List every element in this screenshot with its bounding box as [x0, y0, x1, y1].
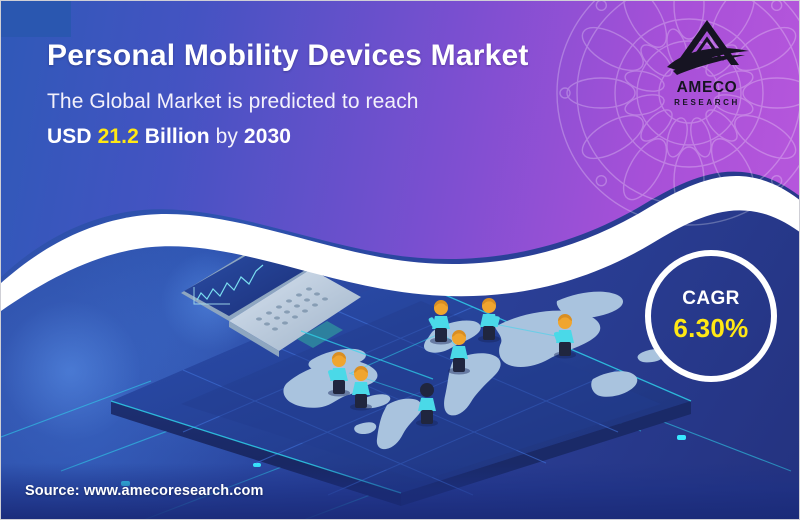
logo-subtitle: RESEARCH	[651, 98, 763, 107]
cagr-badge: CAGR 6.30%	[645, 250, 777, 382]
value-unit: Billion	[145, 125, 210, 148]
logo-name: AMECO	[651, 80, 763, 96]
cagr-value: 6.30%	[673, 313, 748, 344]
cagr-label: CAGR	[682, 288, 740, 310]
source-bar: Source: www.amecoresearch.com	[1, 463, 799, 519]
subtitle-line-2: USD 21.2 Billion by 2030	[47, 125, 647, 149]
ameco-triangle-swoosh-icon	[659, 17, 755, 79]
infographic-canvas: Personal Mobility Devices Market The Glo…	[0, 0, 800, 520]
brand-logo[interactable]: AMECO RESEARCH	[651, 17, 763, 107]
headline-block: Personal Mobility Devices Market The Glo…	[47, 39, 647, 149]
corner-accent-block	[1, 1, 71, 37]
market-value: 21.2	[98, 125, 139, 148]
forecast-year: 2030	[244, 125, 291, 148]
page-title: Personal Mobility Devices Market	[47, 39, 647, 73]
currency-label: USD	[47, 125, 92, 148]
subtitle-line-1: The Global Market is predicted to reach	[47, 90, 647, 114]
source-text: Source: www.amecoresearch.com	[25, 483, 264, 499]
value-connector: by	[216, 125, 238, 148]
